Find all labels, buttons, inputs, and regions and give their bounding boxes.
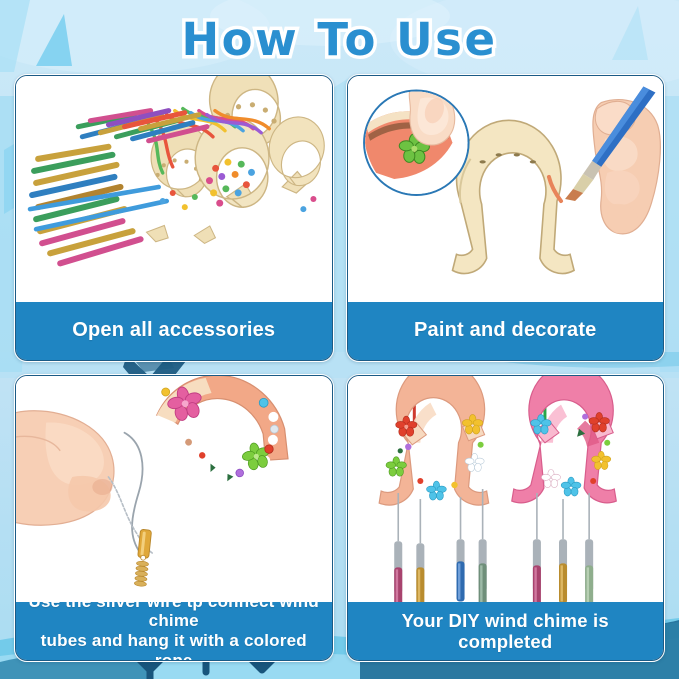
step-caption-4: Your DIY wind chime is completed [348, 602, 664, 660]
page-title: How To Use [182, 13, 498, 66]
step-card-3: Use the silver wire tp connect wind chim… [14, 374, 334, 662]
page-title-container: How To Use [0, 8, 679, 70]
step-card-1: Open all accessories [14, 74, 334, 362]
step-caption-2: Paint and decorate [348, 302, 664, 360]
paint-decorate-illustration [348, 76, 664, 302]
step-caption-3-line-2: tubes and hang it with a colored rope [41, 631, 307, 662]
finished-wind-chimes-photo [348, 376, 664, 602]
finished-chimes-illustration [348, 376, 664, 602]
painting-horseshoe-photo [348, 76, 664, 302]
step-card-4: Your DIY wind chime is completed [346, 374, 666, 662]
craft-supplies-photo [16, 76, 332, 302]
steps-grid: Open all accessories [14, 74, 665, 662]
step-caption-1: Open all accessories [16, 302, 332, 360]
step-card-2: Paint and decorate [346, 74, 666, 362]
threading-wire-photo [16, 376, 332, 602]
how-to-use-infographic: How To Use [0, 0, 679, 679]
step-caption-3: Use the silver wire tp connect wind chim… [16, 602, 332, 660]
connect-tubes-illustration [16, 376, 332, 602]
craft-supplies-illustration [16, 76, 332, 302]
